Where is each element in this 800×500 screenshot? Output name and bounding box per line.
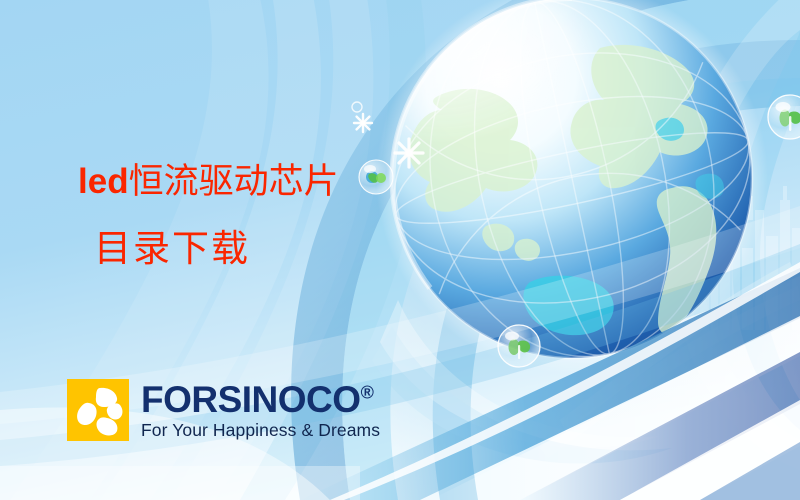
bubble-globe-right-icon bbox=[766, 93, 800, 141]
headline-latin-word: led bbox=[78, 162, 129, 201]
headline-line-2: 目录下载 bbox=[94, 226, 418, 272]
brand-name: FORSINOCO® bbox=[141, 381, 380, 419]
brand-tagline: For Your Happiness & Dreams bbox=[141, 420, 380, 440]
registered-trademark-icon: ® bbox=[361, 383, 374, 403]
brand-wordmark: FORSINOCO® For Your Happiness & Dreams bbox=[141, 379, 380, 440]
bubble-plant-icon bbox=[496, 323, 542, 369]
brand-name-text: FORSINOCO bbox=[141, 379, 361, 420]
promo-banner: led恒流驱动芯片 目录下载 FORSINOCO® bbox=[0, 0, 800, 500]
forsinoco-flower-mark-icon bbox=[67, 379, 129, 441]
brand-logo[interactable]: FORSINOCO® For Your Happiness & Dreams bbox=[67, 379, 380, 441]
city-skyline-shape bbox=[664, 186, 800, 332]
headline-cjk-word: 恒流驱动芯片 bbox=[129, 162, 339, 202]
sparkle-small-icon bbox=[352, 112, 374, 134]
headline-line-1: led恒流驱动芯片 bbox=[78, 160, 418, 204]
headline-block: led恒流驱动芯片 目录下载 bbox=[78, 160, 418, 272]
